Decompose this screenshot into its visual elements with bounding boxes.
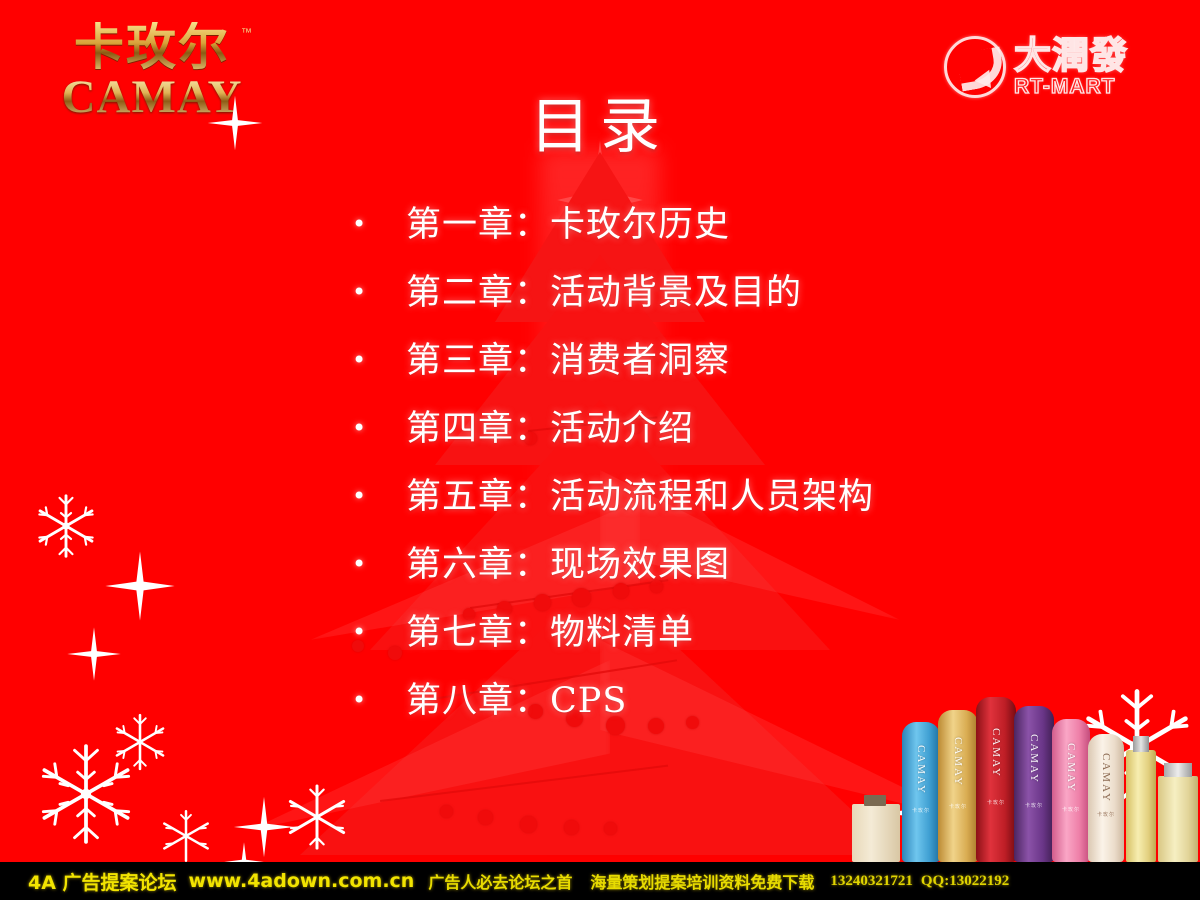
garland-bead [604, 822, 617, 835]
list-item[interactable]: • 第一章：卡玫尔历史 [352, 196, 1152, 264]
bullet-icon: • [352, 620, 406, 644]
product-label: CAMAY [915, 745, 927, 795]
sparkle-star-icon [232, 795, 296, 864]
cream-bottle: CAMAY 卡玫尔 [1088, 734, 1124, 862]
pink-bottle: CAMAY 卡玫尔 [1052, 719, 1090, 862]
tagline-two: 海量策划提案培训资料免费下载 [590, 869, 814, 893]
phone-number: 13240321721 [830, 873, 913, 890]
red-bottle: CAMAY 卡玫尔 [976, 697, 1016, 862]
list-item[interactable]: • 第五章：活动流程和人员架构 [352, 468, 1152, 536]
list-item[interactable]: • 第二章：活动背景及目的 [352, 264, 1152, 332]
tagline-one: 广告人必去论坛之首 [428, 869, 572, 893]
toc-item-label: 第三章：消费者洞察 [406, 332, 730, 383]
product-sublabel: 卡玫尔 [949, 803, 967, 810]
bullet-icon: • [352, 280, 406, 304]
forum-url[interactable]: www.4adown.com.cn [189, 870, 415, 892]
gold-bottle: CAMAY 卡玫尔 [938, 710, 978, 862]
rtmart-chinese-name: 大潤發 [1014, 37, 1128, 74]
table-of-contents-list: • 第一章：卡玫尔历史 • 第二章：活动背景及目的 • 第三章：消费者洞察 • … [352, 196, 1152, 740]
product-label: CAMAY [1065, 743, 1077, 793]
garland-strand [380, 765, 668, 802]
bullet-icon: • [352, 688, 406, 712]
presentation-slide: 卡玫尔 CAMAY ™ 大潤發 RT-MART 目录 • 第一章：卡玫尔历史 •… [0, 0, 1200, 900]
bullet-icon: • [352, 484, 406, 508]
toc-item-label: 第六章：现场效果图 [406, 536, 730, 587]
sparkle-star-icon [65, 625, 123, 688]
garland-bead [478, 810, 493, 825]
watermark-banner: 4A 广告提案论坛 www.4adown.com.cn 广告人必去论坛之首 海量… [0, 862, 1200, 900]
product-sublabel: 卡玫尔 [987, 799, 1005, 806]
snowflake-icon [108, 710, 172, 779]
camay-chinese-name: 卡玫尔 [34, 22, 270, 72]
bullet-icon: • [352, 552, 406, 576]
page-title: 目录 [0, 78, 1200, 165]
snowflake-icon [34, 742, 138, 851]
list-item[interactable]: • 第六章：现场效果图 [352, 536, 1152, 604]
list-item[interactable]: • 第四章：活动介绍 [352, 400, 1152, 468]
perfume-box [852, 804, 900, 862]
camay-product-lineup: CAMAY 卡玫尔 CAMAY 卡玫尔 CAMAY 卡玫尔 CAMAY 卡玫尔 … [840, 662, 1200, 862]
snowflake-icon [30, 490, 102, 567]
product-label: CAMAY [990, 728, 1002, 778]
product-sublabel: 卡玫尔 [1025, 802, 1043, 809]
toc-item-label: 第四章：活动介绍 [406, 400, 694, 451]
toc-item-label: 第一章：卡玫尔历史 [406, 196, 730, 247]
snowflake-icon [280, 780, 354, 859]
bullet-icon: • [352, 212, 406, 236]
product-label: CAMAY [1100, 753, 1112, 803]
bullet-icon: • [352, 348, 406, 372]
perfume-bottle-square [1158, 776, 1198, 862]
sparkle-star-icon [104, 550, 176, 627]
product-label: CAMAY [1028, 734, 1040, 784]
bullet-icon: • [352, 416, 406, 440]
product-sublabel: 卡玫尔 [1097, 811, 1115, 818]
garland-bead [564, 820, 579, 835]
toc-item-label: 第五章：活动流程和人员架构 [406, 468, 874, 519]
list-item[interactable]: • 第三章：消费者洞察 [352, 332, 1152, 400]
toc-item-label: 第七章：物料清单 [406, 604, 694, 655]
qq-number: QQ:13022192 [921, 873, 1009, 890]
trademark-symbol: ™ [241, 28, 252, 39]
purple-bottle: CAMAY 卡玫尔 [1014, 706, 1054, 862]
garland-bead [440, 805, 453, 818]
toc-item-label: 第二章：活动背景及目的 [406, 264, 802, 315]
blue-bottle: CAMAY 卡玫尔 [902, 722, 940, 862]
forum-name: 4A 广告提案论坛 [28, 868, 177, 895]
garland-bead [520, 816, 537, 833]
perfume-bottle-tall [1126, 750, 1156, 862]
product-sublabel: 卡玫尔 [1062, 806, 1080, 813]
toc-item-label: 第八章：CPS [406, 672, 627, 723]
product-sublabel: 卡玫尔 [912, 807, 930, 814]
product-label: CAMAY [952, 737, 964, 787]
